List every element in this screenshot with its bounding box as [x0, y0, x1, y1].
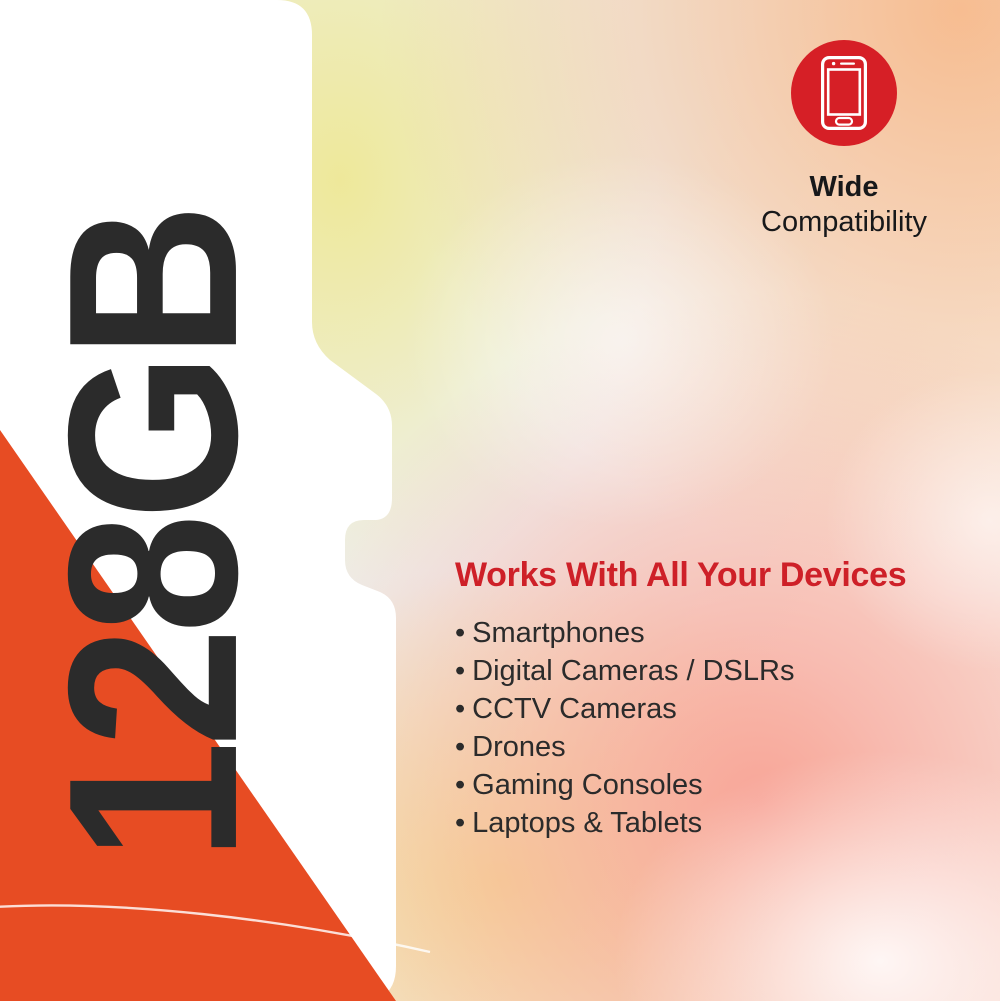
badge-caption-line1: Wide [761, 170, 927, 205]
device-list-item-label: Digital Cameras / DSLRs [472, 655, 794, 687]
poster-canvas: 128GB Wide Compatibility Works With All … [0, 0, 1000, 1001]
device-list-item-label: Drones [472, 731, 566, 763]
bullet-icon: • [455, 807, 465, 839]
device-list-item: •Drones [455, 729, 985, 767]
devices-section: Works With All Your Devices •Smartphones… [455, 556, 985, 843]
bullet-icon: • [455, 655, 465, 687]
device-list-item: •CCTV Cameras [455, 691, 985, 729]
device-list-item-label: Smartphones [472, 617, 645, 649]
device-list-item: •Smartphones [455, 615, 985, 653]
badge-caption-line2: Compatibility [761, 205, 927, 240]
wide-compatibility-badge: Wide Compatibility [700, 40, 988, 241]
devices-title: Works With All Your Devices [455, 556, 985, 595]
badge-circle [791, 40, 897, 146]
device-list-item-label: Laptops & Tablets [472, 807, 702, 839]
bullet-icon: • [455, 769, 465, 801]
bullet-icon: • [455, 617, 465, 649]
device-list-item-label: Gaming Consoles [472, 769, 703, 801]
device-list-item: •Digital Cameras / DSLRs [455, 653, 985, 691]
device-list-item: •Gaming Consoles [455, 767, 985, 805]
device-list-item-label: CCTV Cameras [472, 693, 677, 725]
smartphone-icon [821, 56, 867, 130]
devices-list: •Smartphones•Digital Cameras / DSLRs•CCT… [455, 615, 985, 843]
bullet-icon: • [455, 693, 465, 725]
device-list-item: •Laptops & Tablets [455, 805, 985, 843]
badge-caption: Wide Compatibility [761, 170, 927, 241]
bullet-icon: • [455, 731, 465, 763]
